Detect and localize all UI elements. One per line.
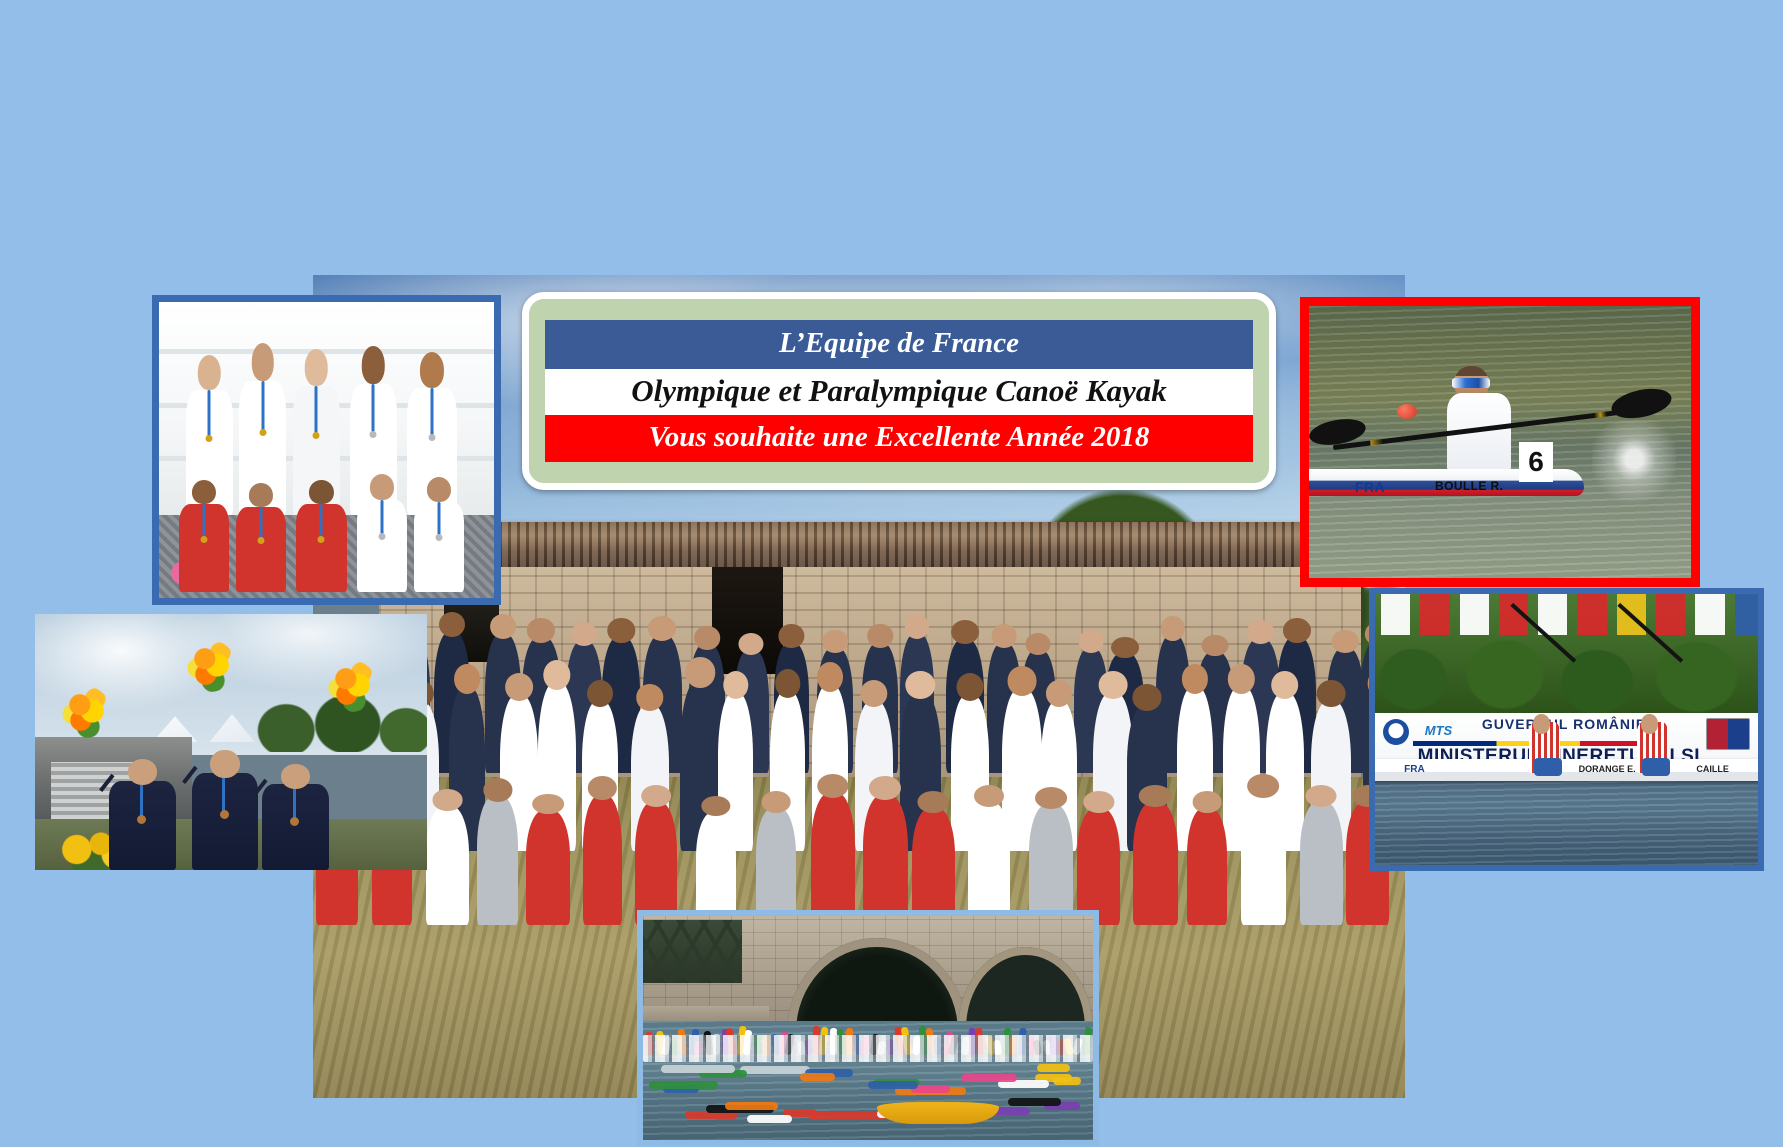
podium-scene: [159, 302, 494, 598]
team-member: [526, 810, 570, 925]
athlete-head: [370, 474, 394, 500]
kayak-boat: [1008, 1098, 1061, 1106]
c2-scene: MTS GUVERNUL ROMÂNIEI MINISTERUL TINERET…: [1375, 594, 1758, 865]
kayak-boat: [661, 1065, 735, 1073]
paddler-head: [1641, 714, 1658, 734]
team-member-head: [1132, 684, 1161, 710]
medal-ribbon: [260, 507, 263, 540]
team-member-head: [454, 664, 480, 694]
medal-ribbon: [372, 384, 375, 435]
podium-athlete: [109, 752, 176, 870]
team-member-head: [527, 618, 555, 642]
medal-disc: [429, 434, 436, 441]
athlete-name-label: BOULLE R.: [1435, 479, 1503, 493]
greeting-line-3: Vous souhaite une Excellente Année 2018: [545, 415, 1253, 461]
team-row-front: [313, 736, 1405, 925]
greeting-card: L’Equipe de France Olympique et Paralymp…: [522, 292, 1276, 490]
team-member-head: [701, 796, 730, 816]
team-member: [912, 808, 955, 925]
team-member-head: [723, 671, 748, 699]
team-member-head: [1271, 671, 1299, 699]
bouquet-right: [325, 660, 377, 712]
team-member-head: [739, 633, 764, 655]
team-member: [1029, 804, 1073, 925]
medal-disc: [435, 534, 442, 541]
water-splash: [1592, 420, 1676, 518]
bunting-flag: [1420, 594, 1449, 635]
team-member-head: [1248, 774, 1280, 798]
team-member-head: [505, 673, 533, 701]
country-code-label: FRA: [1404, 764, 1425, 775]
medal-ribbon: [203, 504, 206, 538]
team-member: [811, 793, 855, 925]
athlete-head: [192, 480, 216, 505]
country-code-label: FRA: [1355, 479, 1385, 495]
kayak-boat: [800, 1073, 835, 1081]
team-member-head: [869, 776, 901, 800]
team-member-head: [817, 774, 848, 798]
podium-athlete: [262, 757, 329, 870]
team-member: [477, 796, 518, 925]
bouquet-middle: [184, 640, 236, 692]
team-member: [968, 802, 1010, 925]
bunting-flag: [1460, 594, 1489, 635]
team-member-head: [483, 778, 512, 801]
medal-ribbon: [293, 789, 296, 818]
team-member-head: [1283, 618, 1311, 642]
team-member-head: [918, 791, 949, 812]
bunting-flag: [1577, 594, 1606, 635]
kayak-boat: [747, 1115, 792, 1123]
team-member-head: [905, 614, 929, 639]
paddler-head: [1533, 714, 1550, 734]
podium-athlete: [414, 477, 464, 592]
team-member-head: [686, 657, 715, 688]
race-lake: [1375, 773, 1758, 865]
medal-ribbon: [261, 381, 264, 433]
team-member-head: [991, 624, 1016, 647]
athlete-head: [198, 355, 221, 390]
bridge-scene: [643, 916, 1093, 1140]
athlete-head: [309, 480, 333, 505]
team-member-head: [1046, 680, 1072, 707]
paracanoe-scene: FRA BOULLE R. 6: [1309, 306, 1691, 578]
athlete-head: [420, 352, 444, 388]
medal-ribbon: [222, 778, 225, 811]
team-member: [1241, 793, 1285, 925]
team-member-head: [608, 618, 635, 642]
medal-disc: [206, 435, 213, 442]
podium-athlete: [179, 480, 229, 592]
athlete-2-label: CAILLE: [1696, 764, 1729, 774]
team-member: [696, 812, 737, 926]
team-member-head: [1026, 633, 1051, 655]
medal-disc: [370, 431, 377, 438]
team-member-head: [1161, 616, 1186, 641]
team-member-head: [1099, 671, 1128, 699]
team-member: [426, 806, 469, 925]
team-member-head: [1007, 666, 1036, 695]
photo-podium-women: [152, 295, 501, 605]
photo-podium-men: [35, 614, 427, 870]
bunting-flag: [1695, 594, 1724, 635]
crest-icon: [1706, 718, 1750, 750]
team-member-head: [543, 660, 570, 690]
medal-disc: [313, 432, 320, 439]
team-member: [863, 795, 908, 926]
medal-ribbon: [437, 502, 440, 537]
bunting-flag: [1735, 594, 1764, 635]
athlete-head: [362, 346, 385, 383]
podium-athlete: [236, 483, 286, 593]
bunting-flag: [1381, 594, 1410, 635]
athlete-head: [210, 750, 239, 778]
team-member-head: [974, 785, 1004, 807]
kayak-boat: [1037, 1064, 1070, 1072]
team-member-head: [1078, 630, 1103, 652]
c2-paddler: [1521, 692, 1571, 773]
medal-ribbon: [140, 785, 143, 816]
team-member-head: [1193, 791, 1222, 812]
team-member: [756, 808, 796, 925]
collage-stage: Photo de groupe de l'équipe devant un bâ…: [0, 0, 1783, 1147]
team-member-head: [1332, 630, 1359, 652]
medal-disc: [259, 429, 266, 436]
medal-ribbon: [320, 504, 323, 538]
kayak-boat: [1053, 1077, 1081, 1085]
yellow-canoe: [877, 1102, 999, 1124]
team-member-head: [1083, 791, 1114, 812]
photo-paracanoe: FRA BOULLE R. 6: [1300, 297, 1700, 587]
paddler-shorts: [1534, 758, 1562, 776]
team-member-head: [636, 684, 663, 710]
flag-bunting: [1375, 594, 1764, 635]
team-member-head: [860, 680, 887, 707]
team-member-head: [588, 776, 616, 800]
photo-bridge-mass-start: [637, 910, 1099, 1146]
paddler-shorts: [1642, 758, 1670, 776]
bunting-flag: [1656, 594, 1685, 635]
medal-ribbon: [380, 500, 383, 536]
team-member-head: [957, 673, 984, 701]
team-member-head: [1306, 785, 1337, 807]
greeting-line-1: L’Equipe de France: [545, 320, 1253, 368]
metal-truss: [643, 920, 742, 983]
team-member-head: [694, 626, 720, 649]
team-member: [583, 795, 622, 926]
team-member-head: [867, 624, 892, 647]
team-member-head: [532, 794, 564, 815]
team-member-head: [1035, 787, 1067, 809]
team-member-head: [1139, 785, 1172, 807]
team-member-head: [439, 612, 465, 637]
team-member: [635, 802, 676, 925]
sunglasses-icon: [1452, 378, 1490, 388]
bouquet-left: [59, 686, 111, 738]
medal-ribbon: [208, 390, 211, 438]
team-member-head: [951, 620, 979, 644]
kayak-boat: [961, 1074, 1017, 1082]
kayak-boat: [740, 1066, 810, 1074]
team-member-head: [587, 680, 613, 707]
medal-ribbon: [431, 388, 434, 437]
team-member-head: [641, 785, 671, 807]
podium-athlete: [357, 474, 407, 592]
team-member-head: [571, 622, 597, 646]
team-member-head: [817, 662, 843, 692]
team-member-head: [1247, 620, 1275, 644]
athlete-head: [305, 349, 328, 385]
medal-disc: [258, 537, 265, 544]
team-member-head: [432, 789, 463, 810]
team-member-head: [779, 624, 804, 647]
podium-men-scene: [35, 614, 427, 870]
athlete-head: [281, 764, 310, 789]
athlete-head: [249, 483, 273, 507]
podium-athlete: [192, 742, 259, 870]
kayak-boat: [809, 1112, 886, 1120]
lane-number-label: 6: [1519, 442, 1553, 482]
kayak-boat: [725, 1102, 778, 1110]
team-member-head: [1182, 664, 1208, 694]
athlete-head: [427, 477, 451, 502]
photo-c2-romania: MTS GUVERNUL ROMÂNIEI MINISTERUL TINERET…: [1369, 588, 1764, 871]
greeting-line-2: Olympique et Paralympique Canoë Kayak: [545, 369, 1253, 416]
c2-paddler: [1628, 692, 1678, 773]
medal-disc: [201, 536, 208, 543]
medal-disc: [318, 536, 325, 543]
medal-disc: [220, 810, 229, 819]
kayak-boat: [649, 1081, 718, 1089]
podium-athlete: [296, 480, 346, 592]
team-member: [1077, 808, 1120, 925]
team-member-head: [822, 630, 848, 652]
kayak-boat: [868, 1081, 918, 1089]
team-member-head: [906, 671, 935, 699]
medal-disc: [378, 533, 385, 540]
medal-ribbon: [315, 386, 318, 436]
team-member: [1187, 808, 1227, 925]
team-member-head: [1228, 664, 1254, 694]
team-member: [1300, 802, 1343, 925]
team-member-head: [648, 616, 676, 641]
lane-buoy: [1397, 404, 1417, 419]
team-member: [1133, 802, 1178, 925]
team-member-head: [1317, 680, 1346, 707]
paddler-crowd: [643, 1035, 1093, 1062]
team-member-head: [490, 614, 516, 639]
team-member-head: [762, 791, 791, 812]
team-member-head: [775, 669, 800, 698]
athlete-head: [252, 343, 275, 381]
